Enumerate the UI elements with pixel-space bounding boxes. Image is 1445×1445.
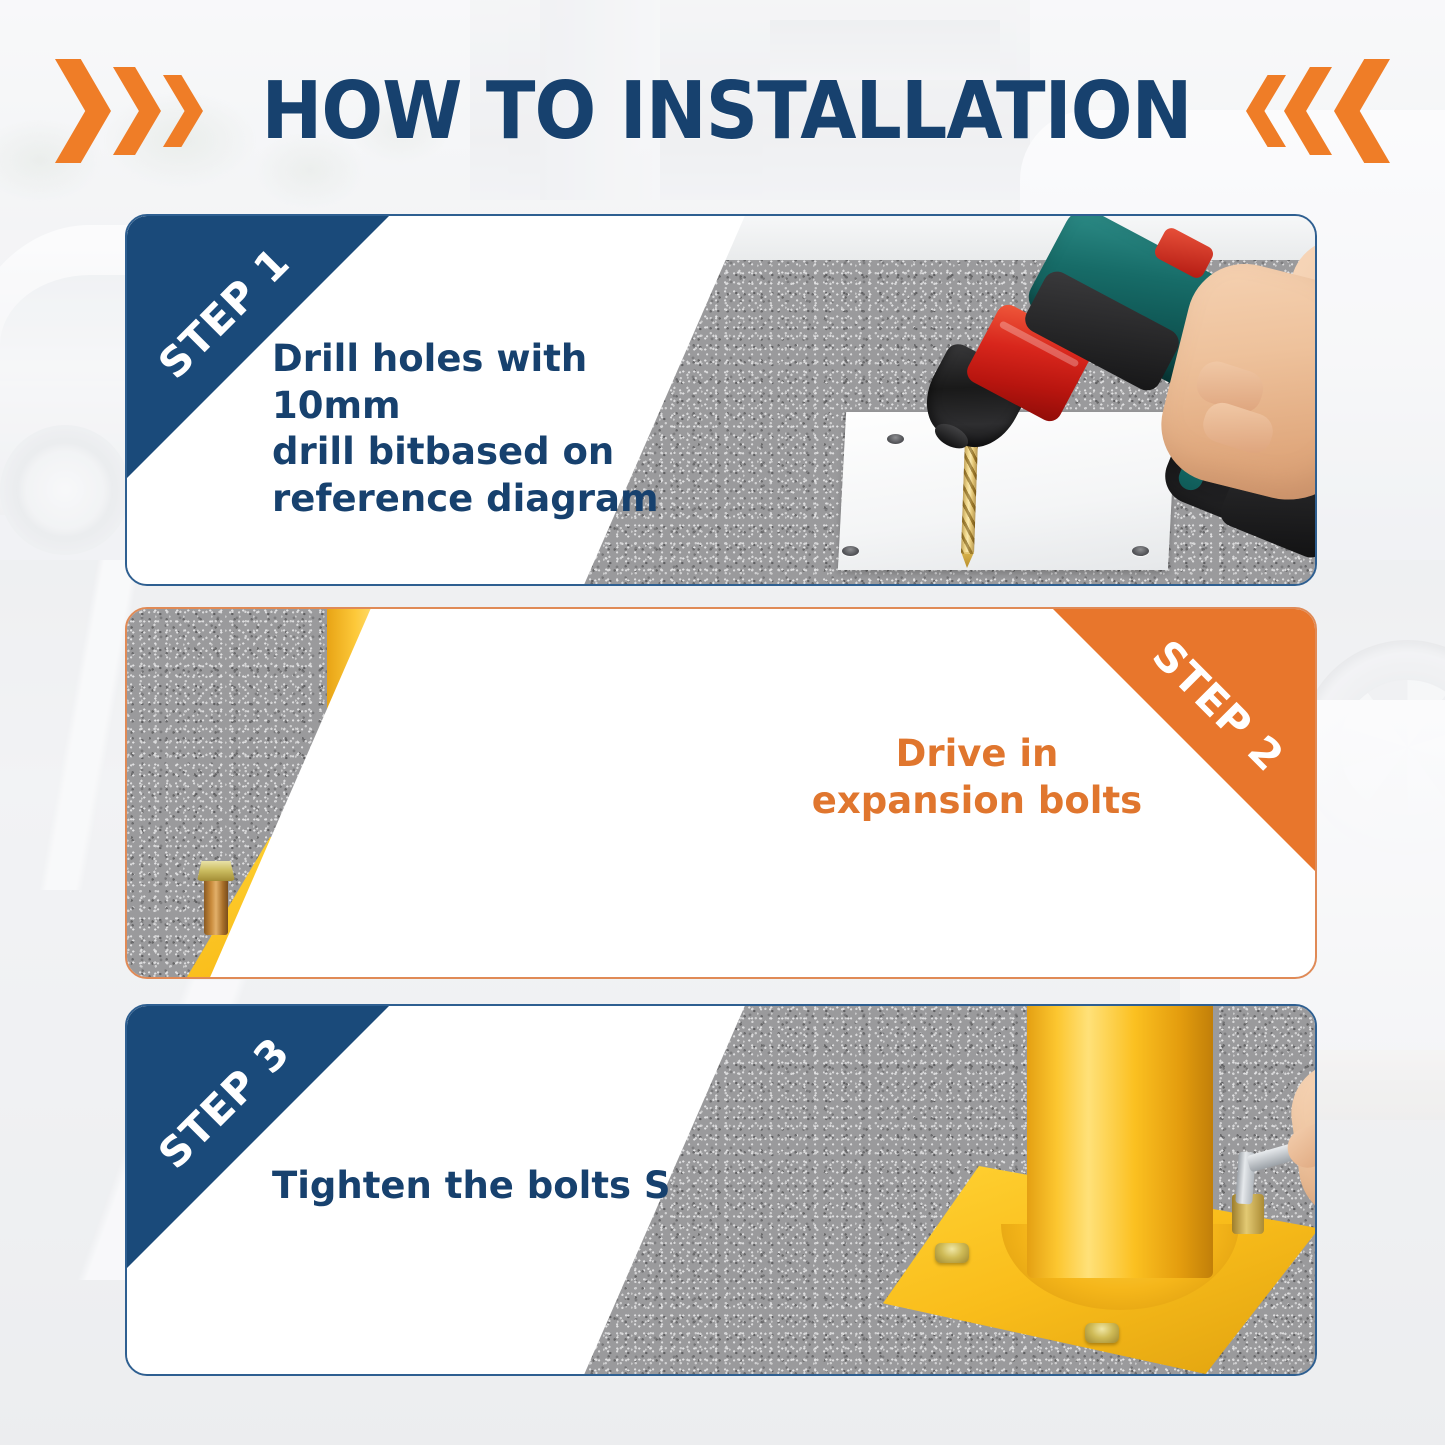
drilled-hole-icon <box>887 434 904 444</box>
left-chevron-group <box>55 59 203 163</box>
tightened-bolt-nut <box>1085 1323 1119 1343</box>
tightened-bolt-nut <box>935 1243 969 1263</box>
chevron-left-icon <box>1246 75 1286 147</box>
drilled-hole-icon <box>842 546 859 556</box>
yellow-bollard-post <box>1027 1004 1213 1278</box>
drilled-hole-icon <box>1132 546 1149 556</box>
chevron-right-icon <box>113 67 161 155</box>
chevron-left-icon <box>1334 59 1390 163</box>
step-1-caption: Drill holes with 10mm drill bitbased on … <box>272 336 702 522</box>
expansion-bolt <box>204 877 228 935</box>
header-banner: HOW TO INSTALLATION <box>0 52 1445 170</box>
page-title: HOW TO INSTALLATION <box>261 65 1191 157</box>
right-chevron-group <box>1250 59 1390 163</box>
chevron-left-icon <box>1284 67 1332 155</box>
step-3-caption: Tighten the bolts S <box>272 1163 792 1210</box>
chevron-right-icon <box>163 75 203 147</box>
chevron-right-icon <box>55 59 111 163</box>
step-card-1: Drill holes with 10mm drill bitbased on … <box>125 214 1317 586</box>
step-2-caption: Drive in expansion bolts <box>747 731 1207 824</box>
step-card-3: Tighten the bolts S STEP 3 <box>125 1004 1317 1376</box>
step-card-2: Drive in expansion bolts STEP 2 <box>125 607 1317 979</box>
